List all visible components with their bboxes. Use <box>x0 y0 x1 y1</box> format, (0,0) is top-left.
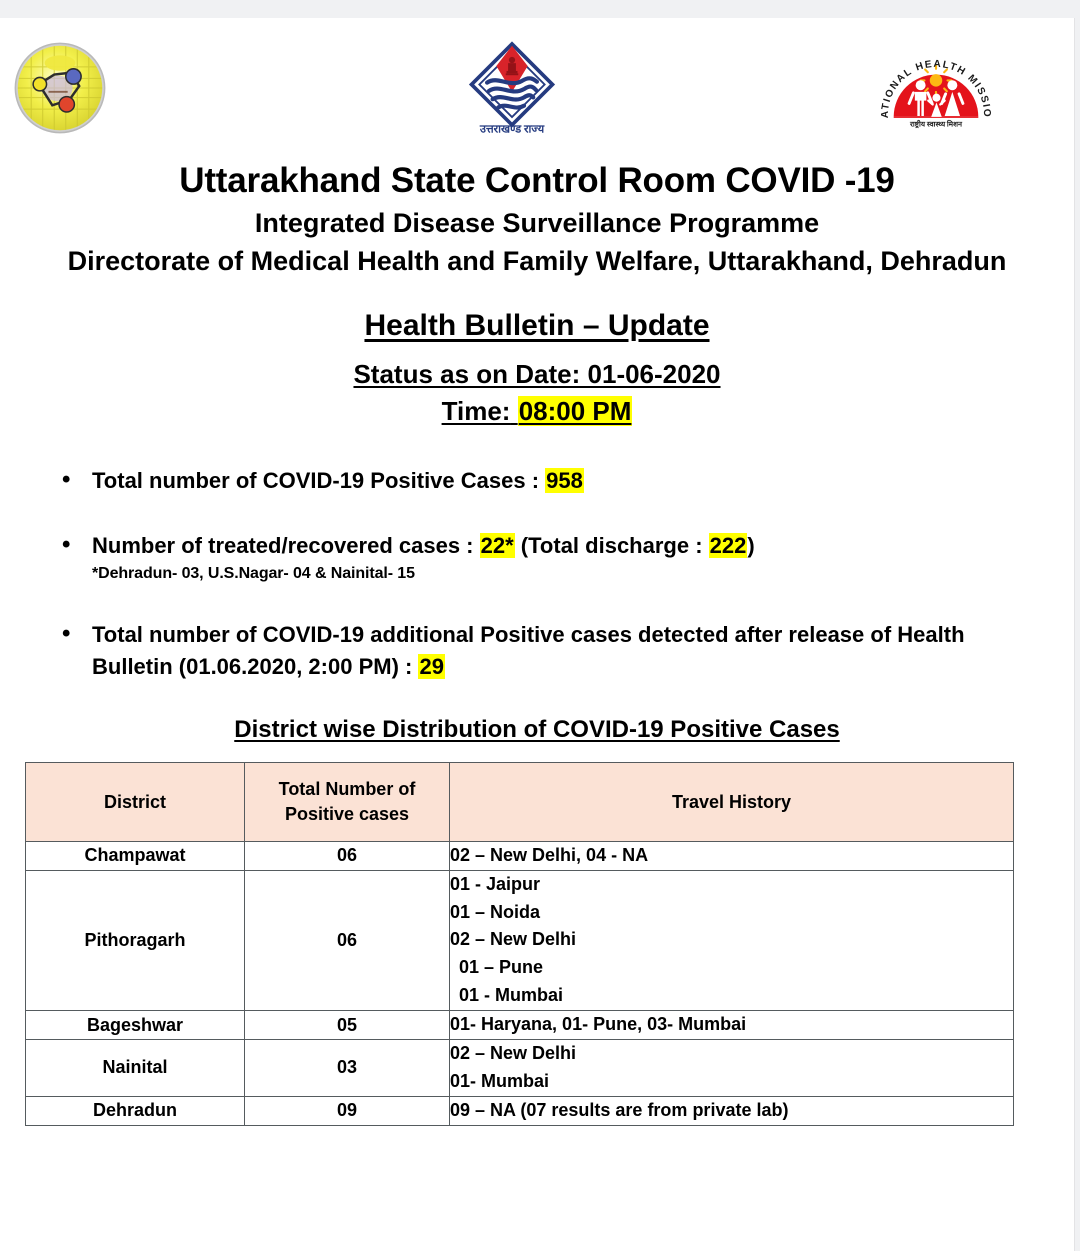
table-header-row: District Total Number of Positive cases … <box>26 762 1014 841</box>
travel-line: 01 - Jaipur <box>450 871 1013 899</box>
cell-count: 05 <box>245 1011 450 1040</box>
document-page: उत्तराखण्ड राज्य <box>0 18 1075 1251</box>
status-date: Status as on Date: 01-06-2020 <box>0 359 1074 390</box>
table-row: Champawat 06 02 – New Delhi, 04 - NA <box>26 841 1014 870</box>
status-time-label: Time: <box>442 396 511 426</box>
svg-text:राष्ट्रीय स्वास्थ्य मिशन: राष्ट्रीय स्वास्थ्य मिशन <box>909 120 963 129</box>
bullet-text-after: ) <box>747 533 754 558</box>
travel-line: 02 – New Delhi <box>450 926 1013 954</box>
district-distribution-table: District Total Number of Positive cases … <box>25 762 1014 1126</box>
cell-district: Pithoragarh <box>26 870 245 1010</box>
cell-district: Champawat <box>26 841 245 870</box>
bullet-text: Total number of COVID-19 additional Posi… <box>92 622 965 678</box>
travel-line: 01- Haryana, 01- Pune, 03- Mumbai <box>450 1011 1013 1039</box>
bullet-text-mid: (Total discharge : <box>521 533 703 558</box>
cell-district: Nainital <box>26 1039 245 1096</box>
bullet-value: 958 <box>545 468 584 493</box>
cell-district: Bageshwar <box>26 1011 245 1040</box>
bullet-text: Number of treated/recovered cases : <box>92 533 474 558</box>
table-body: Champawat 06 02 – New Delhi, 04 - NA Pit… <box>26 841 1014 1125</box>
cell-travel-history: 01- Haryana, 01- Pune, 03- Mumbai <box>450 1011 1014 1040</box>
cell-travel-history: 02 – New Delhi, 04 - NA <box>450 841 1014 870</box>
table-header: District Total Number of Positive cases … <box>26 762 1014 841</box>
bullet-total-positive-cases: Total number of COVID-19 Positive Cases … <box>0 465 1074 496</box>
bullet-treated-recovered-cases: Number of treated/recovered cases : 22* … <box>0 530 1074 585</box>
travel-line: 02 – New Delhi, 04 - NA <box>450 842 1013 870</box>
travel-line: 01 – Noida <box>450 899 1013 927</box>
bulletin-title: Health Bulletin – Update <box>0 309 1074 343</box>
column-header-district: District <box>26 762 245 841</box>
travel-line: 01 – Pune <box>450 954 1013 982</box>
national-health-mission-logo-icon: NATIONAL HEALTH MISSION राष्ट्रीय स्वास्… <box>868 40 1004 140</box>
table-row: Dehradun 09 09 – NA (07 results are from… <box>26 1096 1014 1125</box>
cell-count: 03 <box>245 1039 450 1096</box>
travel-line: 02 – New Delhi <box>450 1040 1013 1068</box>
bullet-value-discharge: 222 <box>709 533 748 558</box>
travel-line: 01- Mumbai <box>450 1068 1013 1096</box>
travel-line: 09 – NA (07 results are from private lab… <box>450 1097 1013 1125</box>
status-time: Time: 08:00 PM <box>0 396 1074 427</box>
idsp-logo-icon <box>12 40 108 136</box>
cell-district: Dehradun <box>26 1096 245 1125</box>
table-heading: District wise Distribution of COVID-19 P… <box>0 716 1074 744</box>
bullet-text: Total number of COVID-19 Positive Cases … <box>92 468 539 493</box>
table-row: Nainital 03 02 – New Delhi 01- Mumbai <box>26 1039 1014 1096</box>
table-row: Pithoragarh 06 01 - Jaipur 01 – Noida 02… <box>26 870 1014 1010</box>
page-subtitle-directorate: Directorate of Medical Health and Family… <box>0 245 1074 277</box>
cell-travel-history: 02 – New Delhi 01- Mumbai <box>450 1039 1014 1096</box>
cell-count: 06 <box>245 841 450 870</box>
viewer-top-bar <box>0 0 1080 18</box>
column-header-total-positive-cases: Total Number of Positive cases <box>245 762 450 841</box>
table-row: Bageshwar 05 01- Haryana, 01- Pune, 03- … <box>26 1011 1014 1040</box>
cell-travel-history: 01 - Jaipur 01 – Noida 02 – New Delhi 01… <box>450 870 1014 1010</box>
uttarakhand-state-emblem-icon: उत्तराखण्ड राज्य <box>452 40 572 140</box>
bullet-footnote: *Dehradun- 03, U.S.Nagar- 04 & Nainital-… <box>92 563 1014 586</box>
summary-bullet-list: Total number of COVID-19 Positive Cases … <box>0 465 1074 682</box>
page-subtitle-programme: Integrated Disease Surveillance Programm… <box>0 207 1074 239</box>
bullet-value-recovered: 22* <box>480 533 515 558</box>
travel-line: 01 - Mumbai <box>450 982 1013 1010</box>
cell-count: 09 <box>245 1096 450 1125</box>
svg-text:उत्तराखण्ड राज्य: उत्तराखण्ड राज्य <box>479 123 545 135</box>
bullet-additional-cases: Total number of COVID-19 additional Posi… <box>0 619 1074 681</box>
status-time-value: 08:00 PM <box>518 396 633 426</box>
cell-travel-history: 09 – NA (07 results are from private lab… <box>450 1096 1014 1125</box>
page-title: Uttarakhand State Control Room COVID -19 <box>0 160 1074 201</box>
column-header-travel-history: Travel History <box>450 762 1014 841</box>
logo-row: उत्तराखण्ड राज्य <box>0 18 1074 130</box>
bullet-value: 29 <box>418 654 444 679</box>
document-header: Uttarakhand State Control Room COVID -19… <box>0 160 1074 427</box>
cell-count: 06 <box>245 870 450 1010</box>
